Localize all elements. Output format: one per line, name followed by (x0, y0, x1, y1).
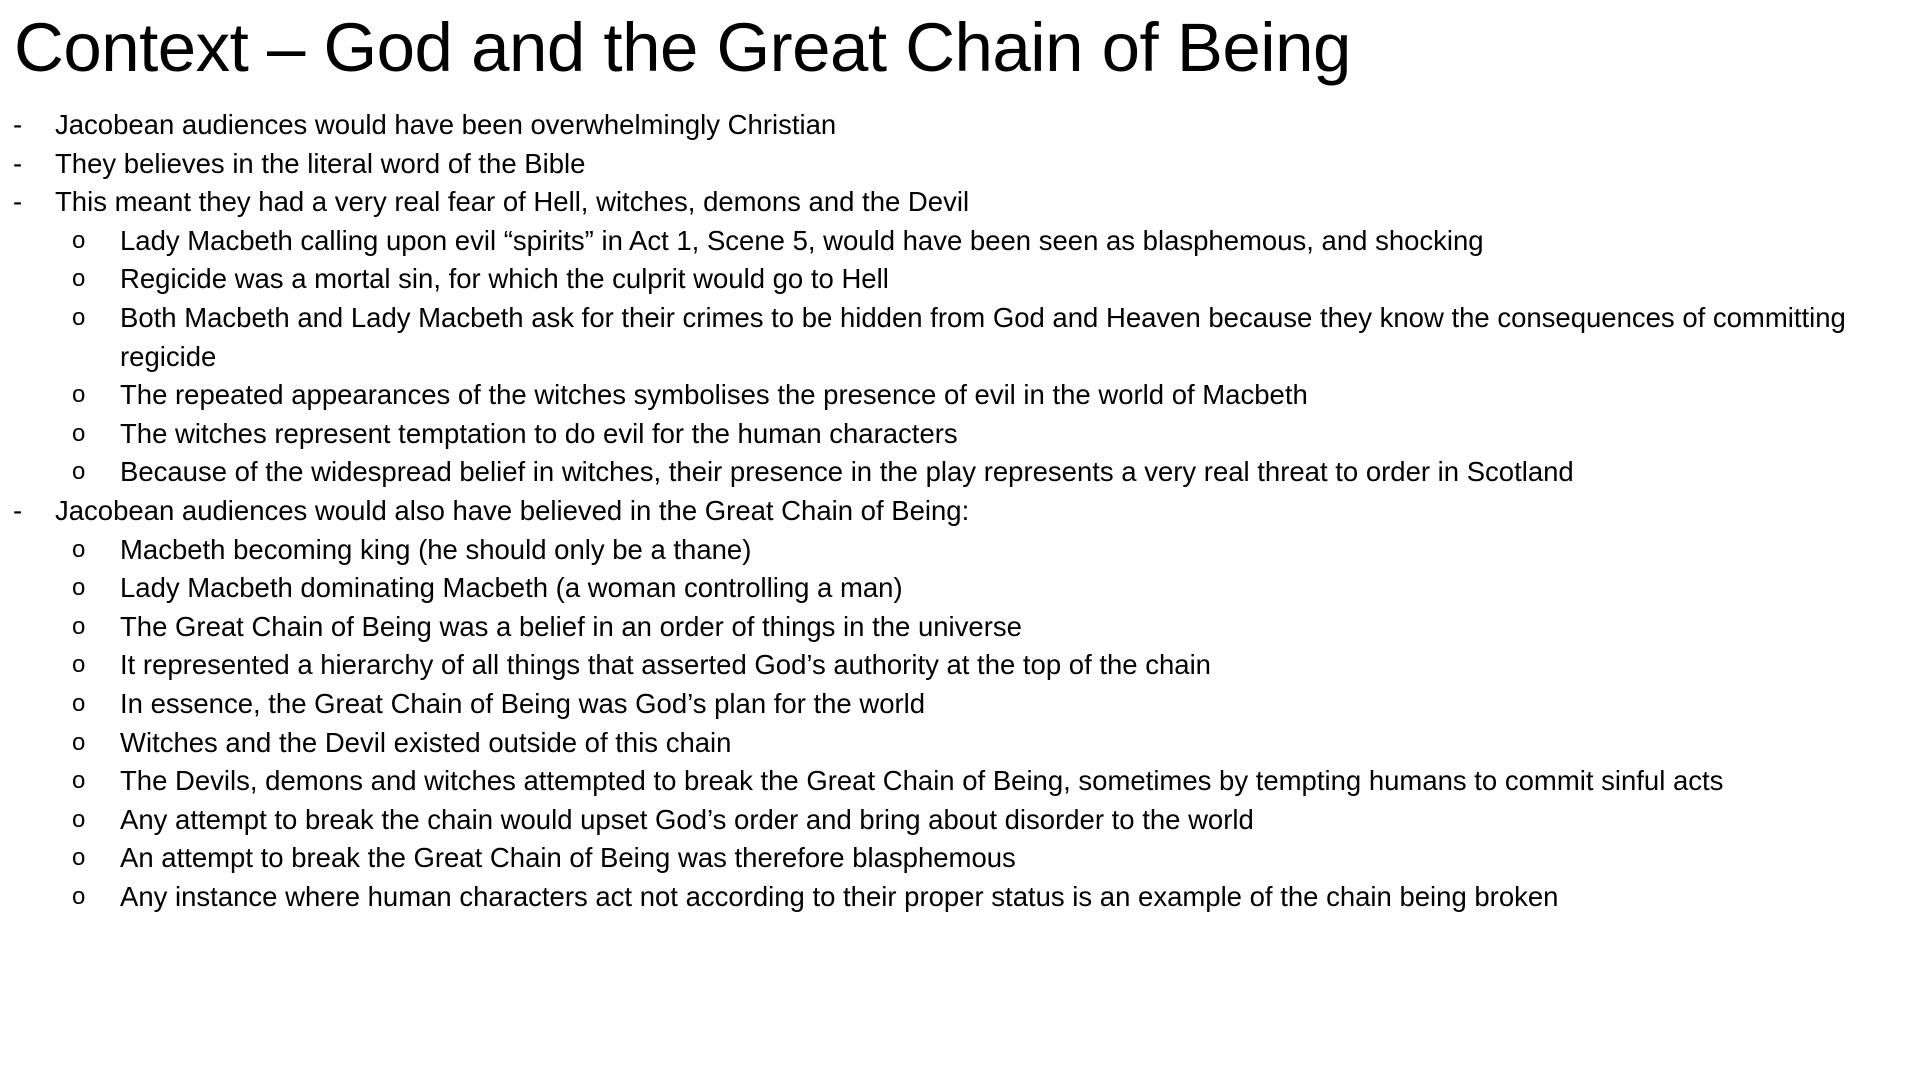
bullet-item-level2: oThe repeated appearances of the witches… (0, 376, 1900, 415)
circle-bullet-icon: o (72, 531, 120, 570)
bullet-item-level2: oIt represented a hierarchy of all thing… (0, 646, 1900, 685)
bullet-text: Witches and the Devil existed outside of… (120, 724, 1900, 763)
bullet-text: It represented a hierarchy of all things… (120, 646, 1900, 685)
dash-bullet-icon: - (13, 492, 55, 531)
bullet-text: This meant they had a very real fear of … (55, 183, 1900, 222)
dash-bullet-icon: - (13, 145, 55, 184)
circle-bullet-icon: o (72, 376, 120, 415)
bullet-text: Because of the widespread belief in witc… (120, 453, 1900, 492)
bullet-item-level2: oAny instance where human characters act… (0, 878, 1900, 917)
bullet-text: Jacobean audiences would have been overw… (55, 106, 1900, 145)
circle-bullet-icon: o (72, 724, 120, 763)
circle-bullet-icon: o (72, 415, 120, 454)
circle-bullet-icon: o (72, 260, 120, 299)
circle-bullet-icon: o (72, 839, 120, 878)
slide-canvas: Context – God and the Great Chain of Bei… (0, 0, 1920, 1080)
circle-bullet-icon: o (72, 646, 120, 685)
bullet-text: Jacobean audiences would also have belie… (55, 492, 1900, 531)
bullet-item-level2: oThe witches represent temptation to do … (0, 415, 1900, 454)
bullet-item-level1: -Jacobean audiences would also have beli… (0, 492, 1900, 531)
bullet-item-level2: oBoth Macbeth and Lady Macbeth ask for t… (0, 299, 1900, 376)
circle-bullet-icon: o (72, 685, 120, 724)
bullet-text: The repeated appearances of the witches … (120, 376, 1900, 415)
bullet-item-level1: -This meant they had a very real fear of… (0, 183, 1900, 222)
bullet-item-level2: oAny attempt to break the chain would up… (0, 801, 1900, 840)
bullet-item-level1: -Jacobean audiences would have been over… (0, 106, 1900, 145)
bullet-item-level2: oLady Macbeth calling upon evil “spirits… (0, 222, 1900, 261)
circle-bullet-icon: o (72, 453, 120, 492)
bullet-text: They believes in the literal word of the… (55, 145, 1900, 184)
circle-bullet-icon: o (72, 222, 120, 261)
circle-bullet-icon: o (72, 299, 120, 338)
bullet-text: The witches represent temptation to do e… (120, 415, 1900, 454)
bullet-item-level2: oLady Macbeth dominating Macbeth (a woma… (0, 569, 1900, 608)
bullet-text: Any attempt to break the chain would ups… (120, 801, 1900, 840)
bullet-text: An attempt to break the Great Chain of B… (120, 839, 1900, 878)
circle-bullet-icon: o (72, 569, 120, 608)
dash-bullet-icon: - (13, 106, 55, 145)
bullet-text: The Great Chain of Being was a belief in… (120, 608, 1900, 647)
bullet-item-level2: oWitches and the Devil existed outside o… (0, 724, 1900, 763)
circle-bullet-icon: o (72, 878, 120, 917)
bullet-item-level2: oBecause of the widespread belief in wit… (0, 453, 1900, 492)
bullet-text: Lady Macbeth calling upon evil “spirits”… (120, 222, 1900, 261)
dash-bullet-icon: - (13, 183, 55, 222)
bullet-text: Macbeth becoming king (he should only be… (120, 531, 1900, 570)
bullet-item-level2: oMacbeth becoming king (he should only b… (0, 531, 1900, 570)
circle-bullet-icon: o (72, 801, 120, 840)
bullet-item-level2: oRegicide was a mortal sin, for which th… (0, 260, 1900, 299)
bullet-text: Any instance where human characters act … (120, 878, 1900, 917)
bullet-text: Regicide was a mortal sin, for which the… (120, 260, 1900, 299)
bullet-item-level2: oIn essence, the Great Chain of Being wa… (0, 685, 1900, 724)
bullet-text: The Devils, demons and witches attempted… (120, 762, 1900, 801)
bullet-item-level2: oThe Great Chain of Being was a belief i… (0, 608, 1900, 647)
bullet-item-level2: oThe Devils, demons and witches attempte… (0, 762, 1900, 801)
circle-bullet-icon: o (72, 608, 120, 647)
bullet-text: Both Macbeth and Lady Macbeth ask for th… (120, 299, 1900, 376)
page-title: Context – God and the Great Chain of Bei… (14, 6, 1351, 90)
circle-bullet-icon: o (72, 762, 120, 801)
bullet-text: Lady Macbeth dominating Macbeth (a woman… (120, 569, 1900, 608)
bullet-item-level1: -They believes in the literal word of th… (0, 145, 1900, 184)
bullet-item-level2: oAn attempt to break the Great Chain of … (0, 839, 1900, 878)
bullet-text: In essence, the Great Chain of Being was… (120, 685, 1900, 724)
slide-body-content: -Jacobean audiences would have been over… (0, 106, 1900, 916)
